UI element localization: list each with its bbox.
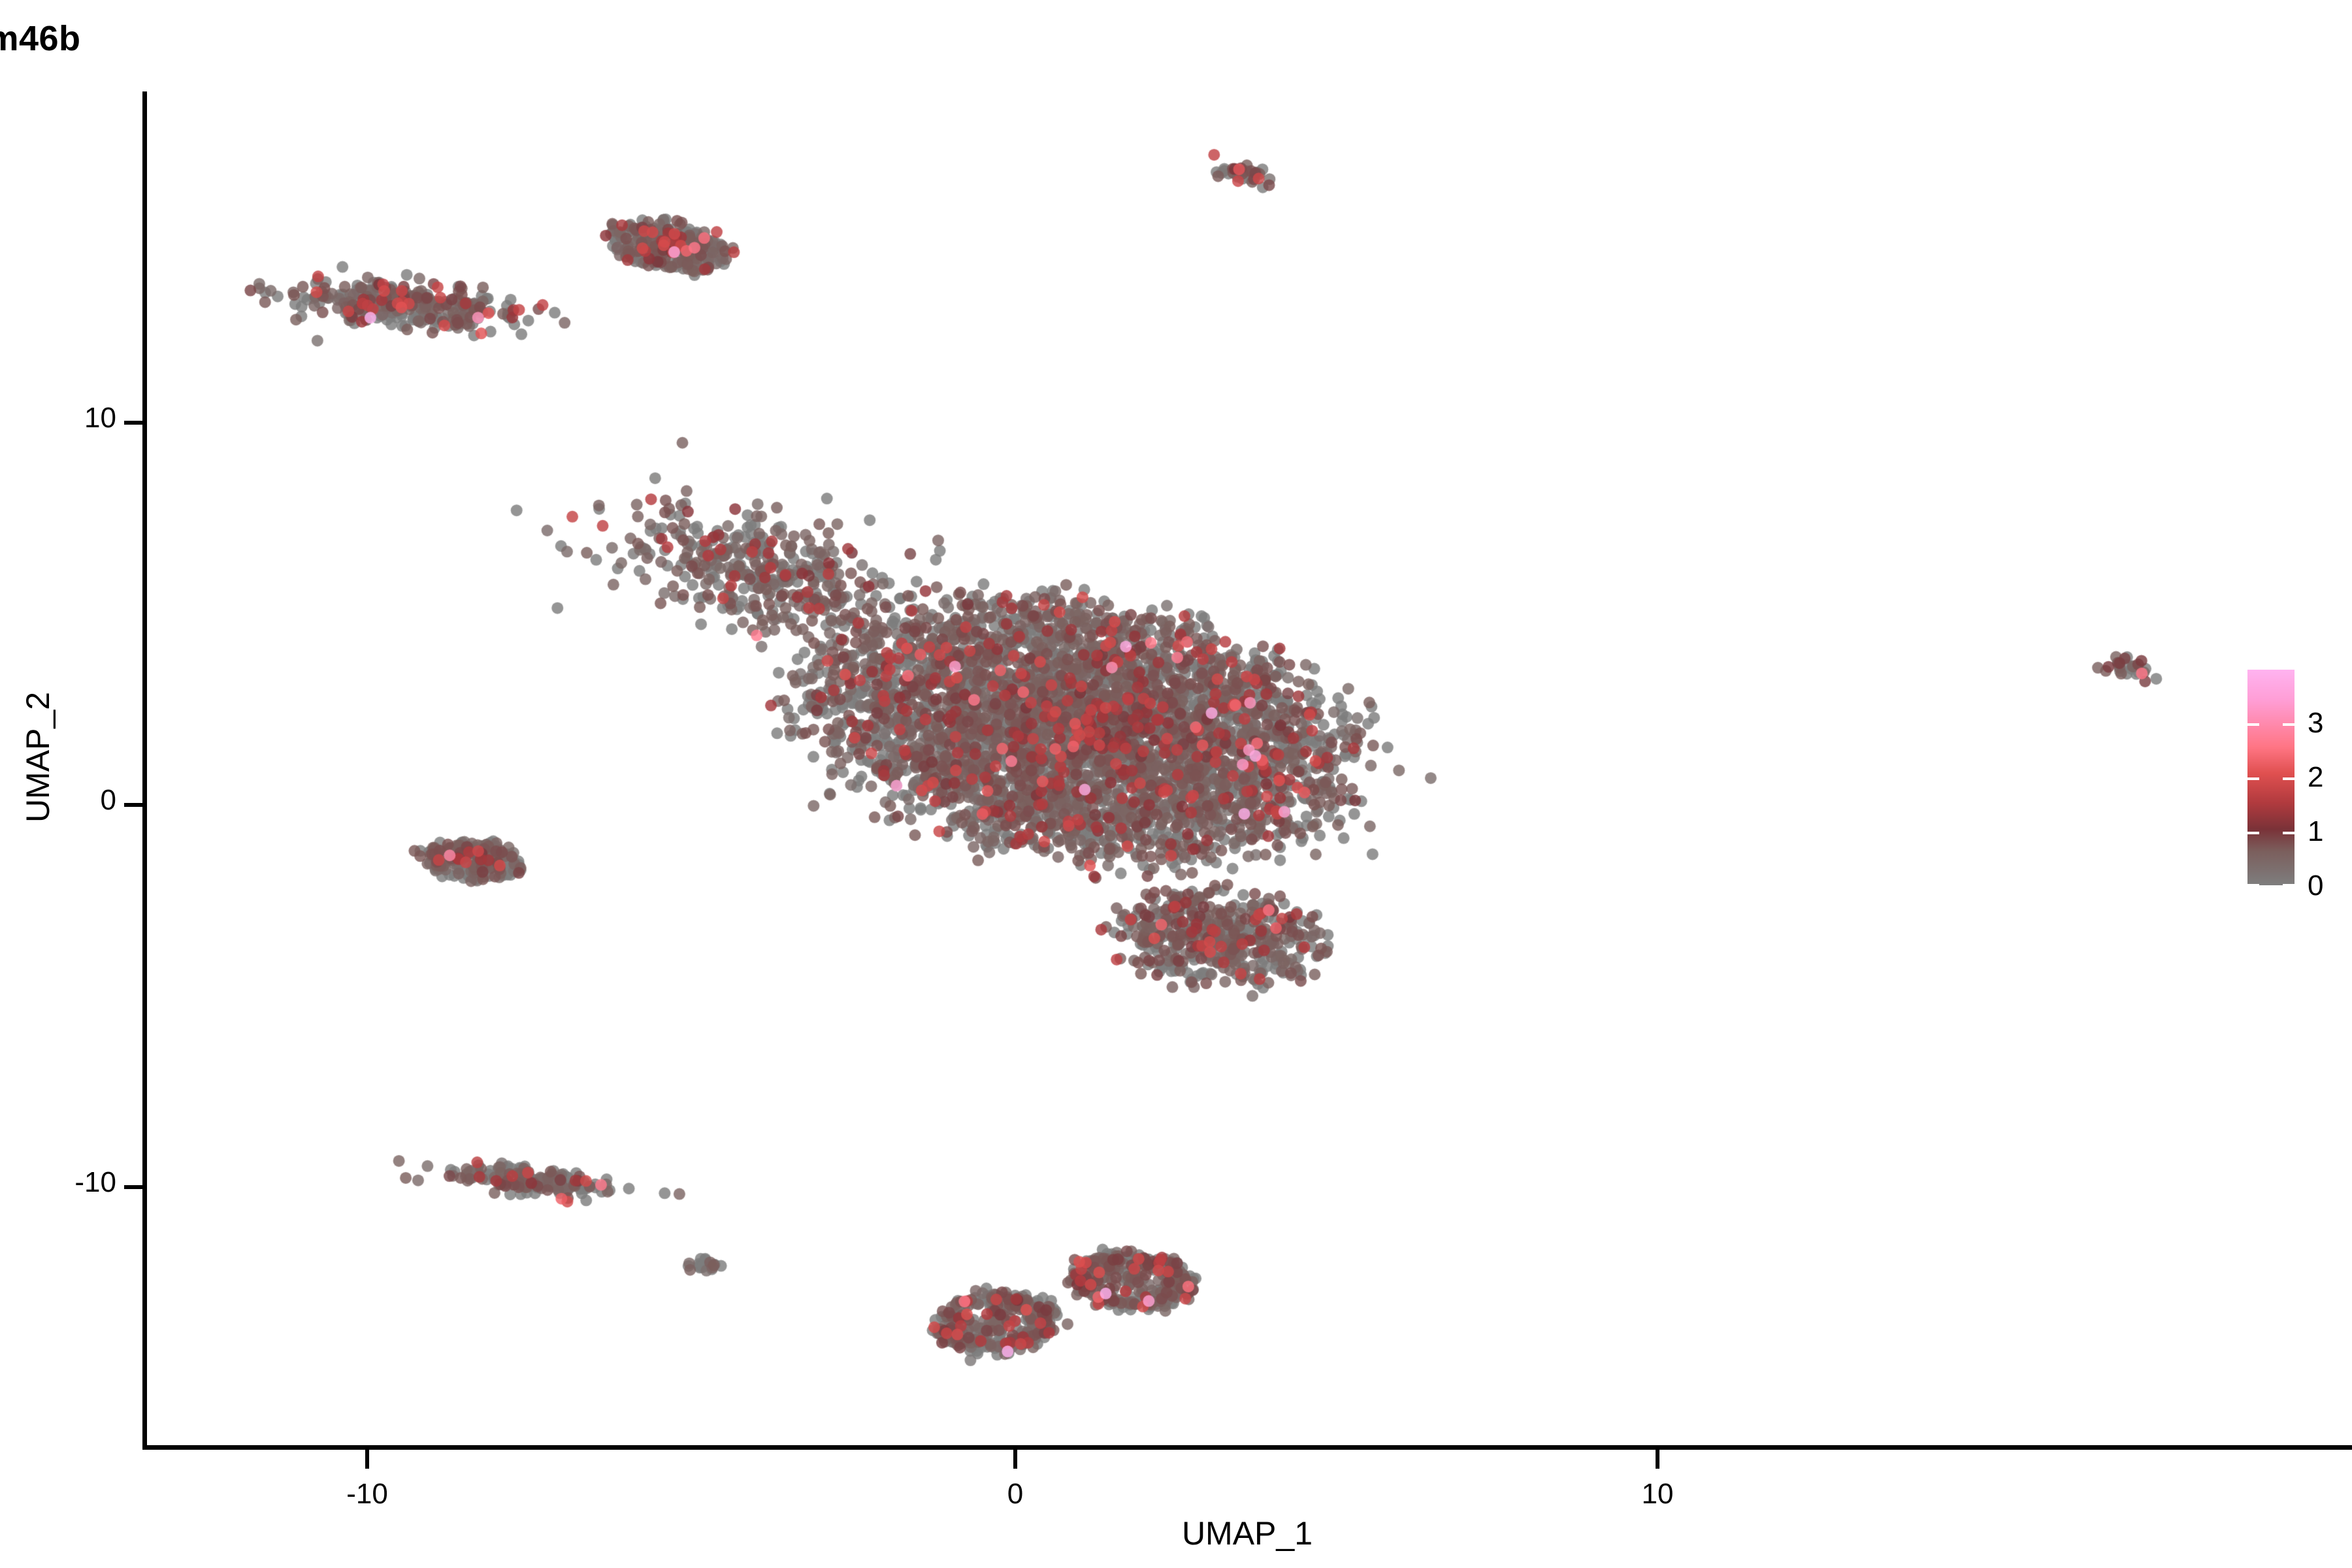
colorbar-legend[interactable]: 3 2 1 0: [2247, 670, 2345, 905]
y-tick-neg10: [124, 1185, 144, 1189]
colorbar-tick-3-right: [2283, 723, 2295, 726]
x-axis-title: UMAP_1: [142, 1514, 2352, 1552]
x-tick-0: [1013, 1449, 1017, 1469]
umap-feature-plot: Fam46b 10 0 -10 -10 0 10 UMAP_1 UMAP_2 3…: [0, 0, 2352, 1568]
y-tick-label-10: 10: [84, 402, 116, 434]
plot-panel: [145, 91, 2321, 1447]
colorbar-tick-0-left: [2247, 884, 2259, 887]
y-tick-0: [124, 803, 144, 807]
colorbar-label-2: 2: [2308, 761, 2323, 794]
colorbar-label-0: 0: [2308, 870, 2323, 902]
scatter-points-canvas: [145, 91, 2321, 1447]
colorbar-tick-1-right: [2283, 832, 2295, 834]
colorbar-tick-2-left: [2247, 777, 2259, 780]
y-axis-title: UMAP_2: [19, 627, 57, 888]
colorbar-label-3: 3: [2308, 707, 2323, 740]
y-axis-line: [142, 91, 147, 1449]
y-tick-10: [124, 421, 144, 425]
colorbar-tick-2-right: [2283, 777, 2295, 780]
colorbar-tick-3-left: [2247, 723, 2259, 726]
x-axis-line: [142, 1445, 2352, 1450]
colorbar-label-1: 1: [2308, 815, 2323, 848]
page-title: Fam46b: [0, 18, 1189, 59]
x-tick-neg10: [365, 1449, 369, 1469]
colorbar-tick-0-right: [2283, 884, 2295, 887]
x-tick-label-0: 0: [1007, 1478, 1023, 1511]
y-tick-label-0: 0: [101, 784, 116, 817]
x-tick-label-10: 10: [1642, 1478, 1674, 1511]
x-tick-label-neg10: -10: [346, 1478, 388, 1511]
colorbar-tick-1-left: [2247, 832, 2259, 834]
x-tick-10: [1656, 1449, 1659, 1469]
y-tick-label-neg10: -10: [74, 1166, 116, 1199]
